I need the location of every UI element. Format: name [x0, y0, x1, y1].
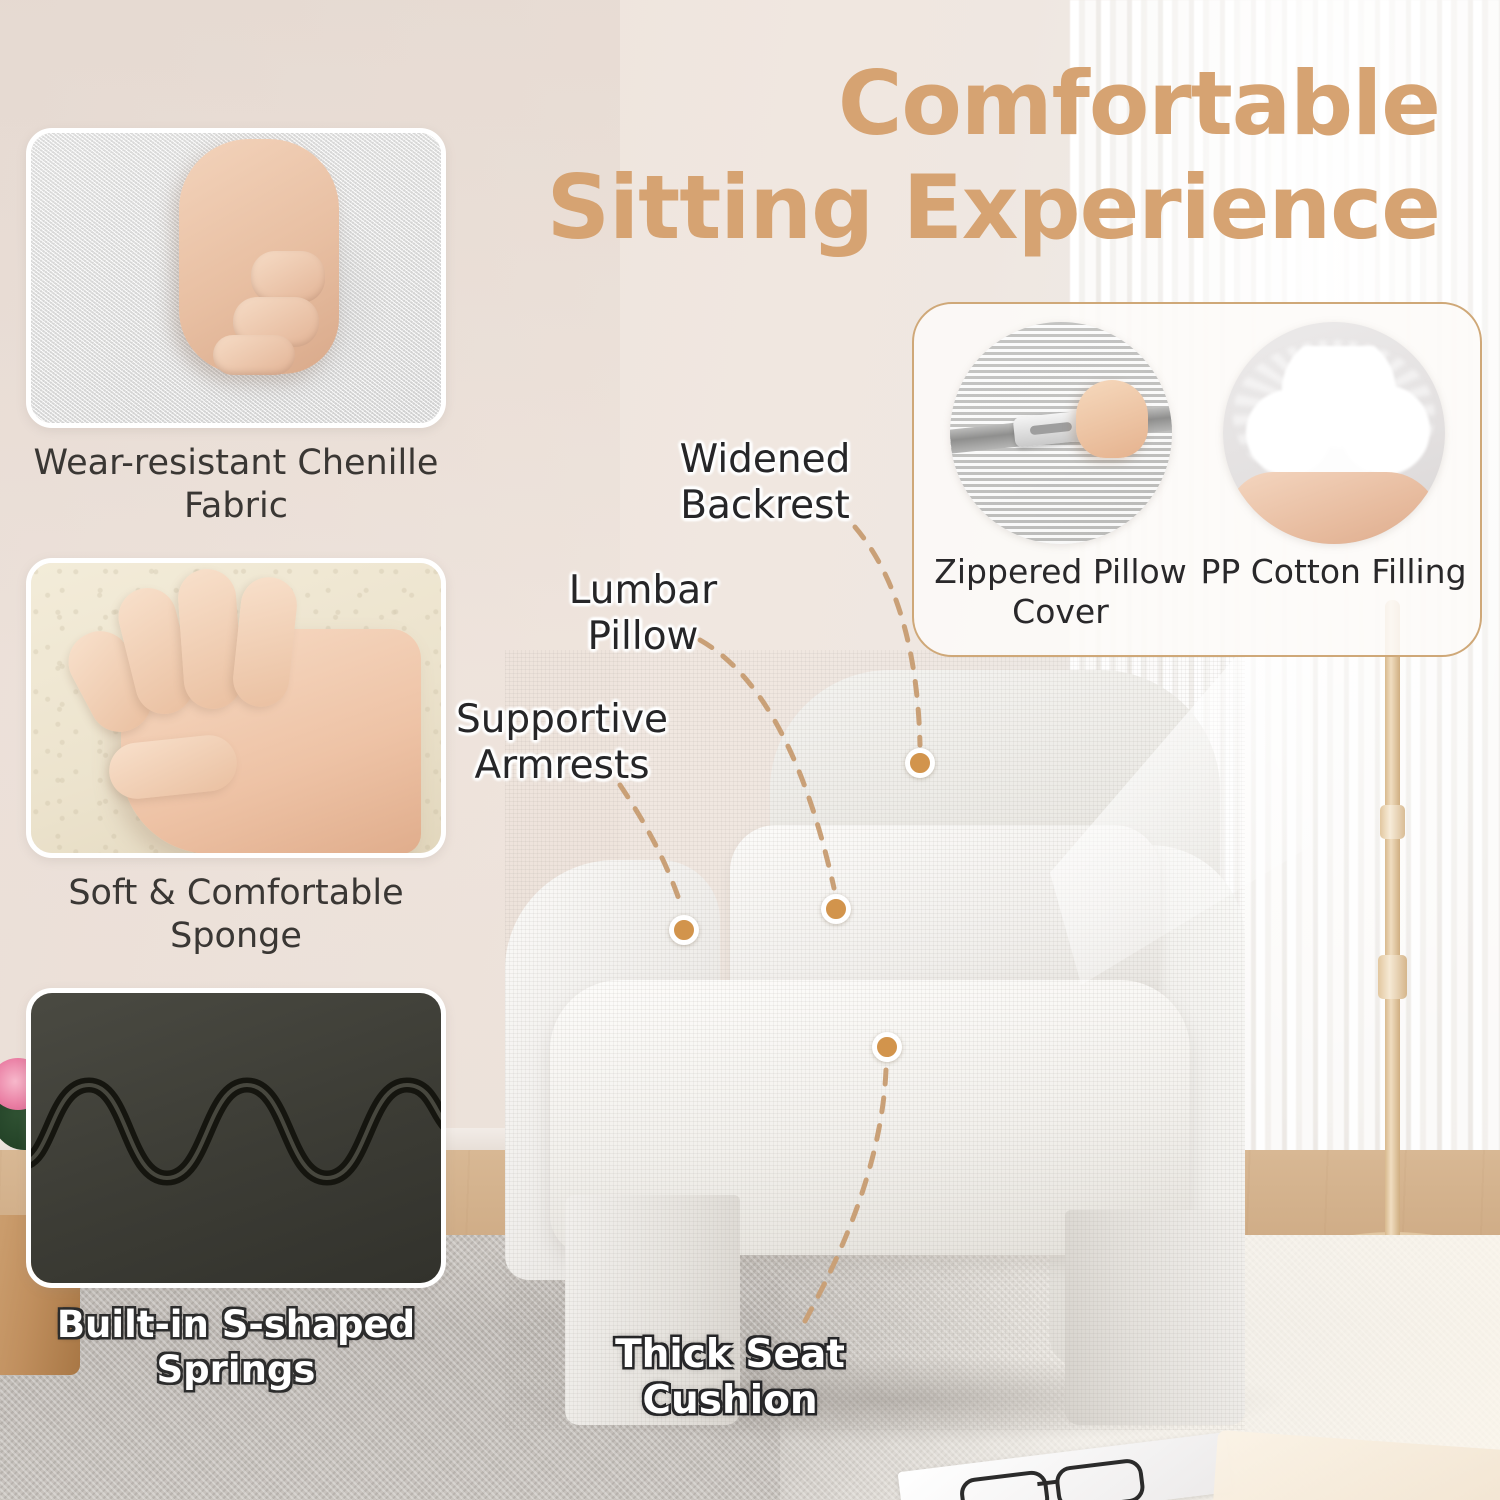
panel-image-zipper: [950, 322, 1172, 544]
panel-item-caption: Zippered Pillow Cover: [924, 552, 1197, 631]
callout-dot-thick-seat-cushion[interactable]: [872, 1032, 902, 1062]
feature-card-caption: Soft & Comfortable Sponge: [26, 872, 446, 957]
feature-card-wear-resistant-chenille-fabric[interactable]: Wear-resistant Chenille Fabric: [26, 128, 446, 527]
sponge-art: [31, 563, 441, 853]
chenille-fabric-art: [31, 133, 441, 423]
callout-label-lumbar-pillow: Lumbar Pillow: [528, 568, 758, 660]
panel-item-caption: PP Cotton Filling: [1200, 552, 1466, 592]
feature-card-image-sponge: [26, 558, 446, 858]
floor-lamp-collar-upper: [1380, 805, 1405, 839]
feature-card-caption: Built-in S-shaped Springs: [26, 1302, 446, 1392]
page-title-line1: Comfortable: [838, 52, 1440, 155]
callout-label-widened-backrest: Widened Backrest: [640, 437, 890, 529]
feature-card-soft-comfortable-sponge[interactable]: Soft & Comfortable Sponge: [26, 558, 446, 957]
feature-card-image-chenille-fabric: [26, 128, 446, 428]
pp-cotton-art: [1223, 322, 1445, 544]
feature-card-built-in-s-shaped-springs[interactable]: Built-in S-shaped Springs: [26, 988, 446, 1392]
holding-hand-icon: [1227, 472, 1441, 544]
panel-item-pp-cotton-filling[interactable]: PP Cotton Filling: [1197, 322, 1470, 645]
pillow-detail-panel: Zippered Pillow Cover PP Cotton Filling: [912, 302, 1482, 657]
callout-dot-supportive-armrests[interactable]: [669, 915, 699, 945]
knuckle-1: [251, 251, 325, 303]
panel-item-zippered-pillow-cover[interactable]: Zippered Pillow Cover: [924, 322, 1197, 645]
chair-right-leg: [1065, 1210, 1245, 1425]
s-spring-art: [31, 993, 441, 1283]
zipper-art: [950, 322, 1172, 544]
finger-3: [176, 567, 244, 711]
fist-icon: [179, 139, 339, 374]
callout-dot-widened-backrest[interactable]: [905, 748, 935, 778]
floor-lamp-pole: [1385, 600, 1400, 1245]
floor-lamp-collar: [1378, 955, 1407, 999]
callout-label-supportive-armrests: Supportive Armrests: [432, 697, 692, 789]
infographic-canvas: Comfortable Sitting Experience Wear-resi…: [0, 0, 1500, 1500]
knuckle-3: [213, 335, 295, 375]
panel-image-pp-cotton: [1223, 322, 1445, 544]
feature-card-image-springs: [26, 988, 446, 1288]
callout-label-thick-seat-cushion: Thick Seat Cushion: [590, 1332, 870, 1424]
s-shaped-spring-icon: [31, 993, 441, 1283]
fingertip-icon: [1076, 380, 1148, 458]
callout-dot-lumbar-pillow[interactable]: [821, 894, 851, 924]
cotton-fluff-icon: [1239, 346, 1431, 486]
feature-card-caption: Wear-resistant Chenille Fabric: [26, 442, 446, 527]
